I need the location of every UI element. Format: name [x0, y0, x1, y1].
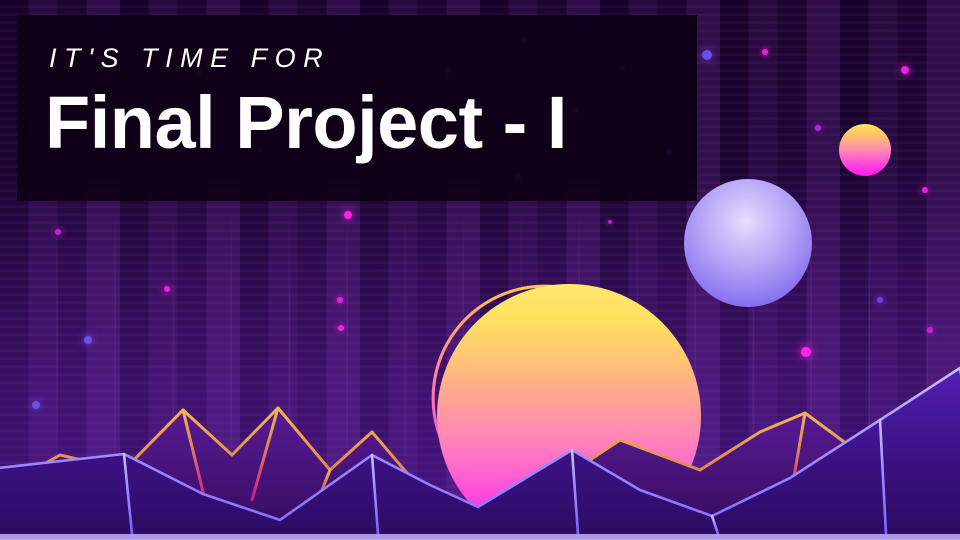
slide-canvas: IT'S TIME FOR Final Project - I: [0, 0, 960, 540]
ground-band: [0, 534, 960, 540]
title-panel: IT'S TIME FOR Final Project - I: [17, 15, 697, 201]
kicker-text: IT'S TIME FOR: [49, 43, 330, 74]
mountain-ridge: [0, 368, 960, 540]
page-title: Final Project - I: [45, 85, 567, 160]
